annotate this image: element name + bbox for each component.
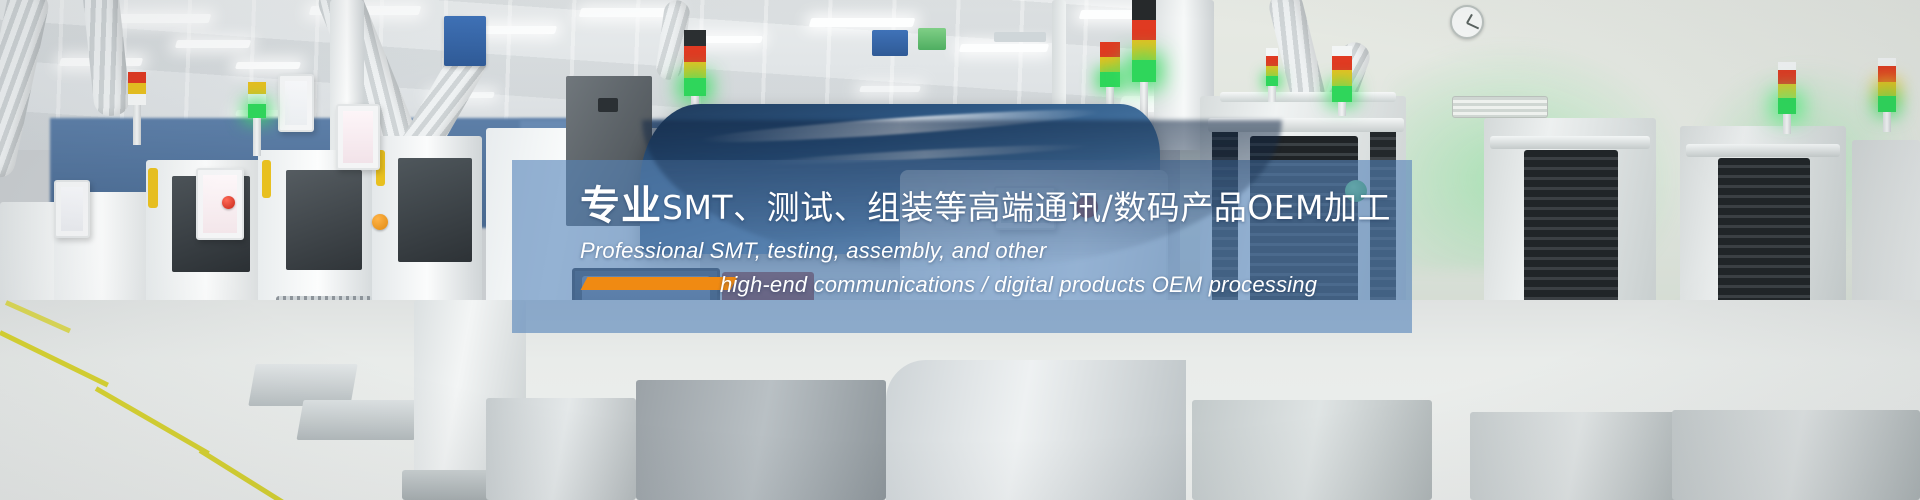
ceiling-lamp: [959, 44, 1049, 52]
headline-emphasis: 专业: [580, 183, 662, 229]
overhead-sign: [994, 32, 1046, 42]
rack-base: [1192, 400, 1432, 500]
smt-machine-dark-window: [398, 158, 472, 262]
yellow-marker: [148, 168, 158, 208]
emergency-stop-button[interactable]: [222, 196, 235, 209]
orange-accent-bar: [581, 277, 738, 290]
rack-base: [1470, 412, 1680, 500]
ceiling-lamp: [859, 86, 921, 92]
machine-vent: [598, 98, 618, 112]
hero-headline: 专业SMT、测试、组装等高端通讯/数码产品OEM加工: [580, 173, 1391, 231]
hero-subtitle-line-1: Professional SMT, testing, assembly, and…: [580, 238, 1480, 264]
signal-tower-light: [1266, 48, 1278, 102]
hmi-touch-panel[interactable]: [278, 74, 314, 132]
signal-tower-light: [1878, 58, 1896, 132]
ceiling-lamp: [175, 40, 251, 48]
hero-subtitle-line-2: high-end communications / digital produc…: [720, 272, 1620, 298]
hero-banner: 专业SMT、测试、组装等高端通讯/数码产品OEM加工 Professional …: [0, 0, 1920, 500]
wall-clock: [1450, 5, 1484, 39]
overhead-sign: [444, 16, 486, 66]
signal-tower-light: [1332, 46, 1352, 116]
headline-rest: SMT、测试、组装等高端通讯/数码产品OEM加工: [662, 188, 1391, 227]
smt-machine-dark-window: [286, 170, 362, 270]
overhead-sign: [872, 30, 908, 56]
rack-base: [1672, 410, 1920, 500]
machine-base-foreground: [486, 398, 636, 500]
rack-cross-beam: [1490, 136, 1650, 149]
hmi-touch-panel[interactable]: [196, 168, 244, 240]
oven-base-foreground: [886, 360, 1186, 500]
rack-cross-beam: [1686, 144, 1840, 157]
emergency-stop-button[interactable]: [372, 214, 388, 230]
rack-cross-beam: [1208, 118, 1404, 132]
hero-text-overlay: 专业SMT、测试、组装等高端通讯/数码产品OEM加工 Professional …: [512, 160, 1412, 333]
yellow-marker: [262, 160, 271, 198]
step-platform: [296, 400, 421, 440]
rack-cross-beam: [1220, 92, 1396, 102]
ceiling-lamp: [809, 18, 916, 27]
ceiling-lamp: [235, 62, 301, 69]
ceiling-lamp: [117, 14, 212, 23]
overhead-sign: [918, 28, 946, 50]
signal-tower-light: [248, 82, 266, 156]
wall-vent-grille: [1452, 96, 1548, 118]
signal-tower-light: [128, 72, 146, 145]
support-pillar: [1052, 0, 1066, 120]
hmi-touch-panel[interactable]: [336, 104, 380, 170]
hmi-touch-panel[interactable]: [54, 180, 90, 238]
machine-base-foreground: [636, 380, 886, 500]
signal-tower-light: [1778, 62, 1796, 134]
